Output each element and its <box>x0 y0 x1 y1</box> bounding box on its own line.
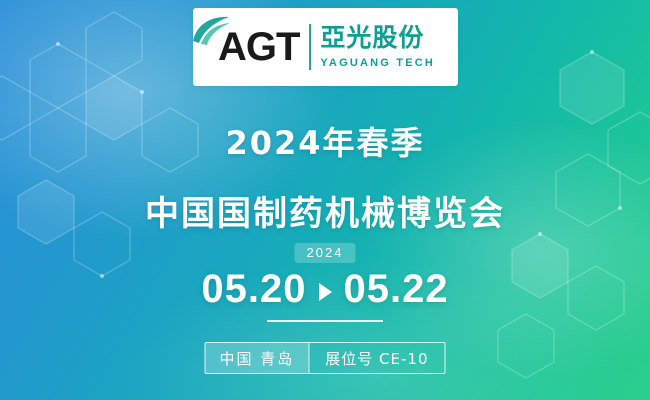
brand-logo-card: AGT 亞光股份 YAGUANG TECH <box>193 8 458 86</box>
logo-brand-cn: 亞光股份 <box>320 25 435 51</box>
exhibition-poster: AGT 亞光股份 YAGUANG TECH 2024年春季 中国国制药机械博览会… <box>0 0 650 400</box>
year-badge: 2024 <box>295 243 356 263</box>
date-start: 05.20 <box>201 267 306 312</box>
headline-block: 2024年春季 中国国制药机械博览会 <box>0 118 650 235</box>
logo-brand-block: 亞光股份 YAGUANG TECH <box>309 24 435 70</box>
date-underline-divider <box>267 320 383 322</box>
footer-info-bar: 中国 青岛 展位号 CE-10 <box>204 342 445 374</box>
footer-booth-number: 展位号 CE-10 <box>308 343 444 373</box>
footer-location: 中国 青岛 <box>205 343 308 373</box>
right-triangle-arrow-icon <box>319 283 332 301</box>
logo-mark: AGT <box>216 27 299 67</box>
headline-line-1: 2024年春季 <box>0 118 650 164</box>
headline-line-2: 中国国制药机械博览会 <box>0 186 650 235</box>
date-end: 05.22 <box>344 267 449 312</box>
logo-brand-en: YAGUANG TECH <box>320 57 435 69</box>
date-range: 05.20 05.22 <box>0 267 650 312</box>
swoosh-icon <box>191 14 231 46</box>
